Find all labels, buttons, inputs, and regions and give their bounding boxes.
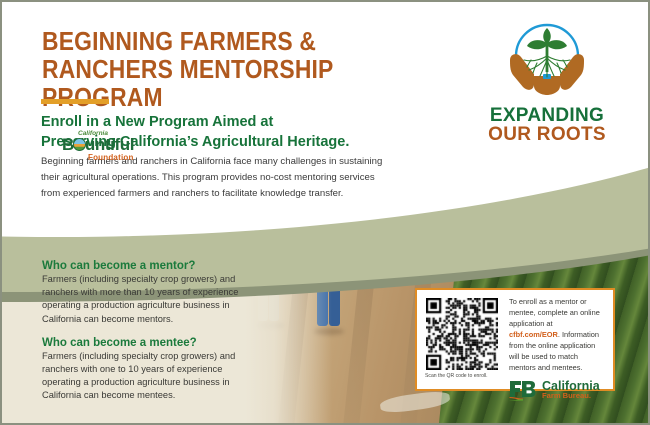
qr-column: Scan the QR code to enroll. xyxy=(425,297,503,382)
enrollment-link[interactable]: cfbf.com/EOR xyxy=(509,330,558,339)
california-farm-bureau-logo: California Farm Bureau. xyxy=(509,380,605,401)
instructions-before-link: To enroll as a mentor or mentee, complet… xyxy=(509,297,600,328)
fb-farm-bureau-text: Farm Bureau. xyxy=(542,392,600,401)
mentee-question-text: Farmers (including specialty crop grower… xyxy=(42,350,252,403)
cbf-untiful-letters: untiful xyxy=(85,135,134,154)
plant-in-hands-icon xyxy=(504,20,590,102)
logo-line-expanding: EXPANDING xyxy=(472,106,622,125)
mentee-question-heading: Who can become a mentee? xyxy=(42,337,252,349)
mentor-question-heading: Who can become a mentor? xyxy=(42,260,252,272)
logo-line-our-roots: OUR ROOTS xyxy=(472,125,622,144)
california-bountiful-foundation-logo: California Buntiful Foundation xyxy=(62,130,154,162)
eligibility-section: Who can become a mentor? Farmers (includ… xyxy=(42,260,252,414)
cbf-foundation-text: Foundation xyxy=(88,153,154,162)
enrollment-instructions: To enroll as a mentor or mentee, complet… xyxy=(509,297,605,374)
card-text-column: To enroll as a mentor or mentee, complet… xyxy=(503,297,605,382)
title-accent-rule xyxy=(41,99,109,104)
logo-wordmark: EXPANDING OUR ROOTS xyxy=(472,106,622,144)
qr-caption: Scan the QR code to enroll. xyxy=(425,373,503,379)
fb-wordmark: California Farm Bureau. xyxy=(542,380,600,401)
enrollment-card: Scan the QR code to enroll. To enroll as… xyxy=(415,288,615,391)
mentor-question-text: Farmers (including specialty crop grower… xyxy=(42,273,252,326)
fb-monogram-icon xyxy=(509,380,537,401)
expanding-our-roots-logo: EXPANDING OUR ROOTS xyxy=(472,20,622,144)
qr-code[interactable] xyxy=(426,298,498,370)
poster-canvas: BEGINNING FARMERS & RANCHERS MENTORSHIP … xyxy=(0,0,650,425)
cbf-bountiful-text: Buntiful xyxy=(62,137,154,153)
